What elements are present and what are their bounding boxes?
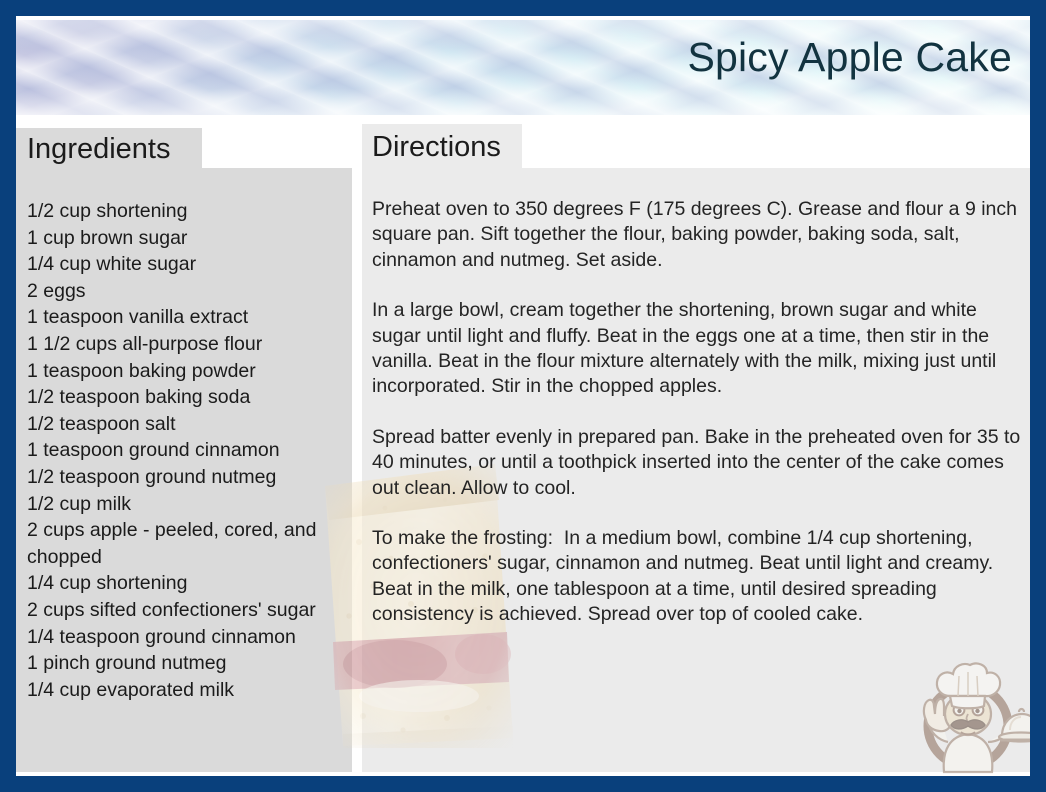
directions-body: Preheat oven to 350 degrees F (175 degre… bbox=[372, 197, 1022, 628]
list-item: 1 1/2 cups all-purpose flour bbox=[27, 331, 351, 358]
direction-paragraph: Preheat oven to 350 degrees F (175 degre… bbox=[372, 197, 1022, 273]
list-item: 1/4 cup shortening bbox=[27, 570, 351, 597]
list-item: 2 cups apple - peeled, cored, and choppe… bbox=[27, 517, 351, 570]
list-item: 1 pinch ground nutmeg bbox=[27, 650, 351, 677]
list-item: 1/2 cup milk bbox=[27, 491, 351, 518]
list-item: 1/2 teaspoon ground nutmeg bbox=[27, 464, 351, 491]
list-item: 1 teaspoon vanilla extract bbox=[27, 304, 351, 331]
list-item: 1/4 cup evaporated milk bbox=[27, 677, 351, 704]
ingredients-heading: Ingredients bbox=[27, 130, 171, 168]
ingredients-list: 1/2 cup shortening 1 cup brown sugar 1/4… bbox=[27, 198, 351, 703]
page-title: Spicy Apple Cake bbox=[687, 33, 1012, 81]
recipe-card: Spicy Apple Cake bbox=[0, 0, 1046, 792]
list-item: 1/4 teaspoon ground cinnamon bbox=[27, 624, 351, 651]
chef-with-cloche-logo bbox=[906, 654, 1030, 776]
list-item: 1 teaspoon ground cinnamon bbox=[27, 437, 351, 464]
list-item: 1 cup brown sugar bbox=[27, 225, 351, 252]
list-item: 2 eggs bbox=[27, 278, 351, 305]
list-item: 1 teaspoon baking powder bbox=[27, 358, 351, 385]
list-item: 1/2 teaspoon baking soda bbox=[27, 384, 351, 411]
directions-heading: Directions bbox=[372, 128, 501, 166]
direction-paragraph: To make the frosting: In a medium bowl, … bbox=[372, 526, 1022, 628]
list-item: 2 cups sifted confectioners' sugar bbox=[27, 597, 351, 624]
direction-paragraph: Spread batter evenly in prepared pan. Ba… bbox=[372, 425, 1022, 501]
list-item: 1/2 teaspoon salt bbox=[27, 411, 351, 438]
recipe-page: Spicy Apple Cake bbox=[16, 16, 1030, 776]
list-item: 1/4 cup white sugar bbox=[27, 251, 351, 278]
list-item: 1/2 cup shortening bbox=[27, 198, 351, 225]
direction-paragraph: In a large bowl, cream together the shor… bbox=[372, 298, 1022, 400]
